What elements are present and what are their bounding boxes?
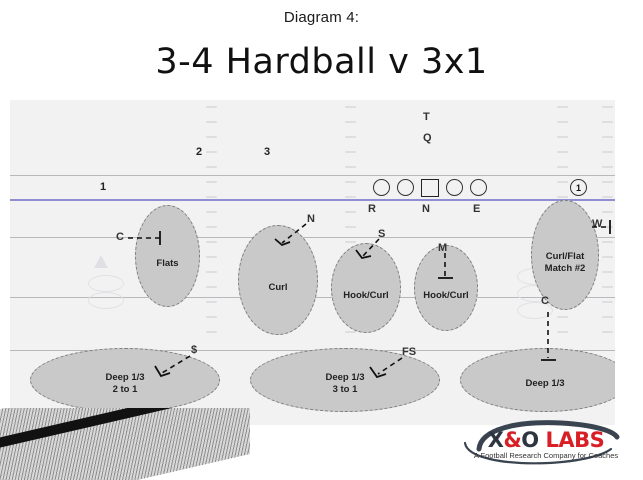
logo-o: O — [521, 428, 538, 452]
brand-logo: X&O LABS A Football Research Company for… — [461, 419, 621, 467]
slide-canvas: Diagram 4: 3-4 Hardball v 3x1 — [0, 0, 643, 480]
logo-x: X — [488, 428, 504, 452]
arrow-head-deep-third-middle — [370, 367, 386, 377]
page-title: 3-4 Hardball v 3x1 — [0, 42, 643, 82]
field-surface: Flats Curl Hook/Curl Hook/Curl Curl/Flat… — [10, 100, 615, 425]
arrow-nickel-to-curl — [282, 224, 306, 243]
logo-ampersand: & — [503, 428, 521, 452]
logo-tagline: A Football Research Company for Coaches — [461, 451, 631, 460]
logo-labs: LABS — [545, 428, 604, 452]
arrow-free-safety-to-deep — [378, 358, 402, 374]
arrow-head-deep-third-left — [155, 366, 170, 376]
logo-wordmark: X&O LABS — [475, 428, 617, 452]
arrow-strong-safety-to-deep — [162, 356, 190, 373]
wedge-stripes — [0, 408, 250, 480]
decorative-wedge — [0, 408, 250, 480]
field-diagram: Flats Curl Hook/Curl Hook/Curl Curl/Flat… — [10, 100, 615, 425]
arrow-sam-to-hook-curl — [363, 239, 379, 256]
assignment-arrows — [10, 100, 615, 425]
diagram-label: Diagram 4: — [0, 9, 643, 26]
arrow-head-hook-curl-left — [356, 250, 371, 258]
